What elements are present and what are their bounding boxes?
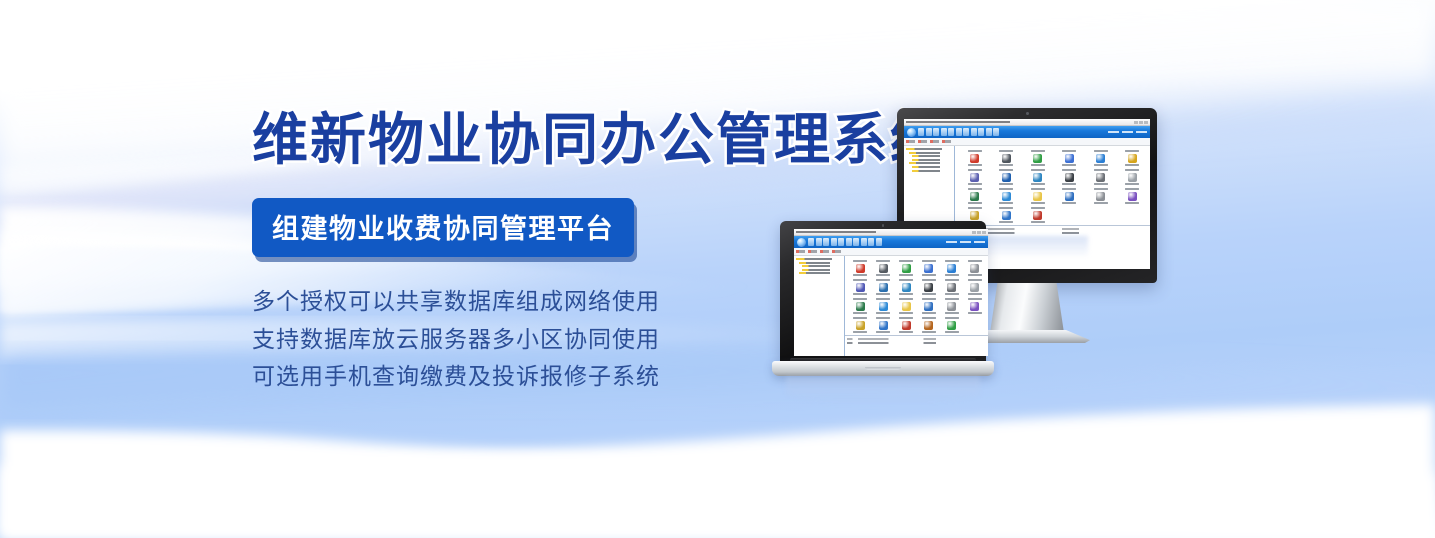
module-icon-label [922,312,936,314]
module-icon-cell[interactable] [963,298,986,314]
app-titlebar-text [796,231,970,233]
toolbar-button-icon [808,238,814,246]
toolbar-link [1122,131,1133,133]
toolbar-button-icon [816,238,822,246]
module-icon [924,321,933,330]
module-icon-label [945,312,959,314]
module-icon-cell[interactable] [940,279,963,295]
module-icon-cell[interactable] [918,279,941,295]
module-icon [1002,154,1011,163]
tree-node [912,166,948,168]
module-icon-cell[interactable] [895,260,918,276]
module-icon-cell[interactable] [918,298,941,314]
module-icon-caption [899,260,913,262]
module-icon-label [1031,164,1045,166]
module-icon-cell[interactable] [940,260,963,276]
module-icon-label [1094,183,1108,185]
app-window-laptop [794,229,988,356]
toolbar-button-icon [986,128,992,136]
module-icon [970,173,979,182]
module-icon-caption [999,188,1013,190]
module-icon [1096,192,1105,201]
toolbar-button-icon [963,128,969,136]
module-icon [970,264,979,273]
app-toolbar [794,236,988,248]
minimize-icon [972,231,976,234]
module-icon-label [968,164,982,166]
module-icon-caption [1125,188,1139,190]
module-icon-cell[interactable] [991,169,1023,185]
module-icon [856,302,865,311]
module-icon-grid-laptop [845,256,988,335]
module-icon-label [1062,164,1076,166]
tree-node [799,272,839,274]
app-logo-icon [797,238,806,247]
module-icon-caption [899,317,913,319]
toolbar-button-icon [861,238,867,246]
module-icon-caption [968,298,982,300]
module-icon-label [1094,202,1108,204]
module-icon-label [922,274,936,276]
module-icon [1128,173,1137,182]
module-icon [947,283,956,292]
app-titlebar [794,229,988,236]
module-icon-cell-empty [1117,207,1149,223]
module-icon [924,283,933,292]
module-icon [856,321,865,330]
module-icon-caption [899,298,913,300]
module-icon-cell-empty [1054,207,1086,223]
toolbar-button-icon [846,238,852,246]
module-icon-cell[interactable] [1054,188,1086,204]
module-icon-cell[interactable] [1054,150,1086,166]
module-icon-caption [945,298,959,300]
module-icon-cell[interactable] [849,279,872,295]
module-icon-cell[interactable] [895,298,918,314]
module-icon-label [876,293,890,295]
toolbar-button-icon [831,238,837,246]
module-icon-cell[interactable] [1022,150,1054,166]
module-icon [856,264,865,273]
module-icon-cell[interactable] [963,260,986,276]
module-icon [924,264,933,273]
module-icon-caption [899,279,913,281]
module-icon-label [899,274,913,276]
app-subtoolbar [904,138,1150,146]
module-icon-label [1031,221,1045,223]
module-icon-cell[interactable] [918,260,941,276]
webcam-icon [1026,112,1029,115]
module-icon-caption [968,207,982,209]
app-subtoolbar [794,248,988,256]
toolbar-right-links [1108,131,1147,133]
toolbar-button-icon [948,128,954,136]
page-title: 维新物业协同办公管理系统 [252,110,872,170]
module-icon-label [922,331,936,333]
module-icon [879,302,888,311]
module-icon-cell[interactable] [940,317,963,333]
tree-node [802,269,838,271]
module-icon-label [853,274,867,276]
module-icon-caption [1031,188,1045,190]
tree-node [799,262,839,264]
module-icon-label [1031,202,1045,204]
module-icon-cell[interactable] [940,298,963,314]
module-icon [902,302,911,311]
module-icon-caption [853,298,867,300]
module-icon-cell[interactable] [1085,150,1117,166]
window-controls [1134,121,1148,124]
module-icon-label [899,331,913,333]
app-toolbar [904,126,1150,138]
close-icon [982,231,986,234]
toolbar-button-icon [868,238,874,246]
module-icon-label [1125,183,1139,185]
module-icon-caption [922,298,936,300]
navigation-tree [794,256,845,356]
module-icon-label [968,312,982,314]
module-icon-cell[interactable] [849,317,872,333]
toolbar-button-icon [926,128,932,136]
toolbar-button-icon [971,128,977,136]
module-icon-cell[interactable] [1054,169,1086,185]
module-icon-label [876,331,890,333]
module-icon-grid-monitor [955,146,1150,225]
module-icon-cell[interactable] [1022,207,1054,223]
module-icon-caption [1094,188,1108,190]
module-icon-label [999,221,1013,223]
module-icon-label [945,331,959,333]
module-icon-caption [853,279,867,281]
module-icon [1033,154,1042,163]
module-icon [1002,173,1011,182]
module-icon-caption [922,260,936,262]
app-main-panel [845,256,988,356]
toolbar-right-links [946,241,985,243]
module-icon [1128,192,1137,201]
module-icon-caption [1062,150,1076,152]
module-icon [879,321,888,330]
module-icon-caption [968,188,982,190]
module-icon-label [1125,202,1139,204]
subtoolbar-item [832,250,841,253]
module-icon-label [968,274,982,276]
module-icon [1002,192,1011,201]
module-icon-caption [1031,169,1045,171]
module-icon-cell[interactable] [1117,169,1149,185]
module-icon-label [1031,183,1045,185]
module-icon-cell[interactable] [1117,188,1149,204]
list-header-row [847,338,986,340]
module-icon-label [922,293,936,295]
subtoolbar-item [918,140,927,143]
module-icon [970,211,979,220]
maximize-icon [977,231,981,234]
module-icon-label [945,293,959,295]
laptop-image [772,221,994,396]
toolbar-button-icon [823,238,829,246]
app-titlebar-text [906,121,1132,123]
module-icon [856,283,865,292]
module-icon-cell[interactable] [895,317,918,333]
module-icon-cell[interactable] [1117,150,1149,166]
module-icon-cell[interactable] [895,279,918,295]
tree-node [796,258,842,260]
module-icon-cell[interactable] [959,188,991,204]
toolbar-buttons [808,238,882,246]
module-icon [879,283,888,292]
module-icon [902,264,911,273]
module-icon-label [1062,183,1076,185]
module-icon-label [999,202,1013,204]
module-icon-caption [876,298,890,300]
module-icon-label [1125,164,1139,166]
toolbar-link [960,241,971,243]
module-icon-cell[interactable] [991,207,1023,223]
tree-node [912,170,948,172]
module-icon-caption [999,169,1013,171]
module-icon-caption [968,279,982,281]
module-icon [1033,211,1042,220]
module-icon-cell-empty [963,317,986,333]
app-body [794,256,988,356]
subtoolbar-item [930,140,939,143]
module-icon [1065,154,1074,163]
module-icon [947,321,956,330]
promo-banner: 维新物业协同办公管理系统 组建物业收费协同管理平台 多个授权可以共享数据库组成网… [0,0,1435,538]
module-icon-cell[interactable] [1022,169,1054,185]
module-icon [947,302,956,311]
module-icon-cell[interactable] [1085,188,1117,204]
module-icon-caption [853,317,867,319]
laptop-lid [780,221,986,363]
subtoolbar-item [820,250,829,253]
window-controls [972,231,986,234]
module-icon [924,302,933,311]
module-icon [970,283,979,292]
module-icon-cell[interactable] [1022,188,1054,204]
module-icon-caption [853,260,867,262]
module-icon-caption [968,169,982,171]
tree-node [802,265,838,267]
subtitle-badge: 组建物业收费协同管理平台 [252,198,634,257]
module-icon-caption [945,279,959,281]
toolbar-link [946,241,957,243]
module-icon [879,264,888,273]
module-icon-caption [1031,207,1045,209]
module-icon-caption [922,279,936,281]
tree-node [909,162,949,164]
tree-node [912,159,948,161]
module-icon-caption [945,260,959,262]
module-icon-label [853,331,867,333]
tree-node [906,148,952,150]
subtoolbar-item [796,250,805,253]
module-icon-cell[interactable] [991,188,1023,204]
module-icon [1033,192,1042,201]
toolbar-buttons [918,128,999,136]
module-icon [970,302,979,311]
module-icon [902,283,911,292]
module-icon [902,321,911,330]
minimize-icon [1134,121,1138,124]
toolbar-button-icon [853,238,859,246]
toolbar-button-icon [993,128,999,136]
module-icon-caption [876,279,890,281]
module-icon-caption [1062,188,1076,190]
module-icon-label [899,312,913,314]
module-icon-label [968,202,982,204]
module-icon-caption [945,317,959,319]
toolbar-link [1136,131,1147,133]
module-icon-caption [1094,150,1108,152]
module-icon-cell[interactable] [872,260,895,276]
module-icon-caption [999,207,1013,209]
module-icon-caption [922,317,936,319]
toolbar-button-icon [978,128,984,136]
subtitle-badge-wrapper: 组建物业收费协同管理平台 [252,198,634,257]
module-icon-cell[interactable] [959,150,991,166]
module-icon-label [899,293,913,295]
module-icon-label [1062,202,1076,204]
module-icon [970,192,979,201]
toolbar-button-icon [941,128,947,136]
module-icon-cell-empty [1085,207,1117,223]
module-icon [1128,154,1137,163]
module-icon-cell[interactable] [991,150,1023,166]
module-icon-cell[interactable] [849,298,872,314]
module-icon-cell[interactable] [849,260,872,276]
module-icon-label [968,293,982,295]
module-icon [947,264,956,273]
monitor-stand-neck [990,283,1064,333]
subtoolbar-item [808,250,817,253]
module-icon-caption [1125,169,1139,171]
toolbar-button-icon [933,128,939,136]
app-titlebar [904,119,1150,126]
module-icon-label [1094,164,1108,166]
close-icon [1144,121,1148,124]
module-icon-caption [999,150,1013,152]
module-icon-label [999,183,1013,185]
table-row [847,342,986,344]
module-icon-caption [1062,169,1076,171]
tree-node [909,152,949,154]
module-icon-cell[interactable] [1085,169,1117,185]
app-logo-icon [907,128,916,137]
module-icon-label [853,312,867,314]
toolbar-link [974,241,985,243]
module-icon-caption [1094,169,1108,171]
subtoolbar-item [906,140,915,143]
toolbar-button-icon [838,238,844,246]
module-icon [1065,173,1074,182]
module-icon [1033,173,1042,182]
module-icon-caption [1125,150,1139,152]
module-icon-caption [1031,150,1045,152]
module-icon-cell[interactable] [872,298,895,314]
record-list-panel [845,335,988,356]
laptop-trackpad-lip [865,367,901,370]
module-icon-label [876,312,890,314]
module-icon-cell[interactable] [959,169,991,185]
module-icon-cell[interactable] [872,279,895,295]
module-icon-label [853,293,867,295]
module-icon [1096,154,1105,163]
module-icon [1065,192,1074,201]
laptop-reflection [786,377,980,403]
module-icon [970,154,979,163]
toolbar-link [1108,131,1119,133]
module-icon-label [968,183,982,185]
laptop-screen [794,229,988,356]
toolbar-button-icon [876,238,882,246]
webcam-icon [882,224,885,227]
toolbar-button-icon [956,128,962,136]
maximize-icon [1139,121,1143,124]
module-icon-cell[interactable] [872,317,895,333]
toolbar-button-icon [918,128,924,136]
module-icon-label [999,164,1013,166]
module-icon-caption [968,260,982,262]
module-icon [1096,173,1105,182]
module-icon-caption [968,150,982,152]
module-icon-label [945,274,959,276]
module-icon-caption [876,260,890,262]
module-icon-caption [876,317,890,319]
subtoolbar-item [942,140,951,143]
module-icon [1002,211,1011,220]
tree-node [912,155,948,157]
module-icon-cell[interactable] [918,317,941,333]
module-icon-label [876,274,890,276]
module-icon-cell[interactable] [963,279,986,295]
